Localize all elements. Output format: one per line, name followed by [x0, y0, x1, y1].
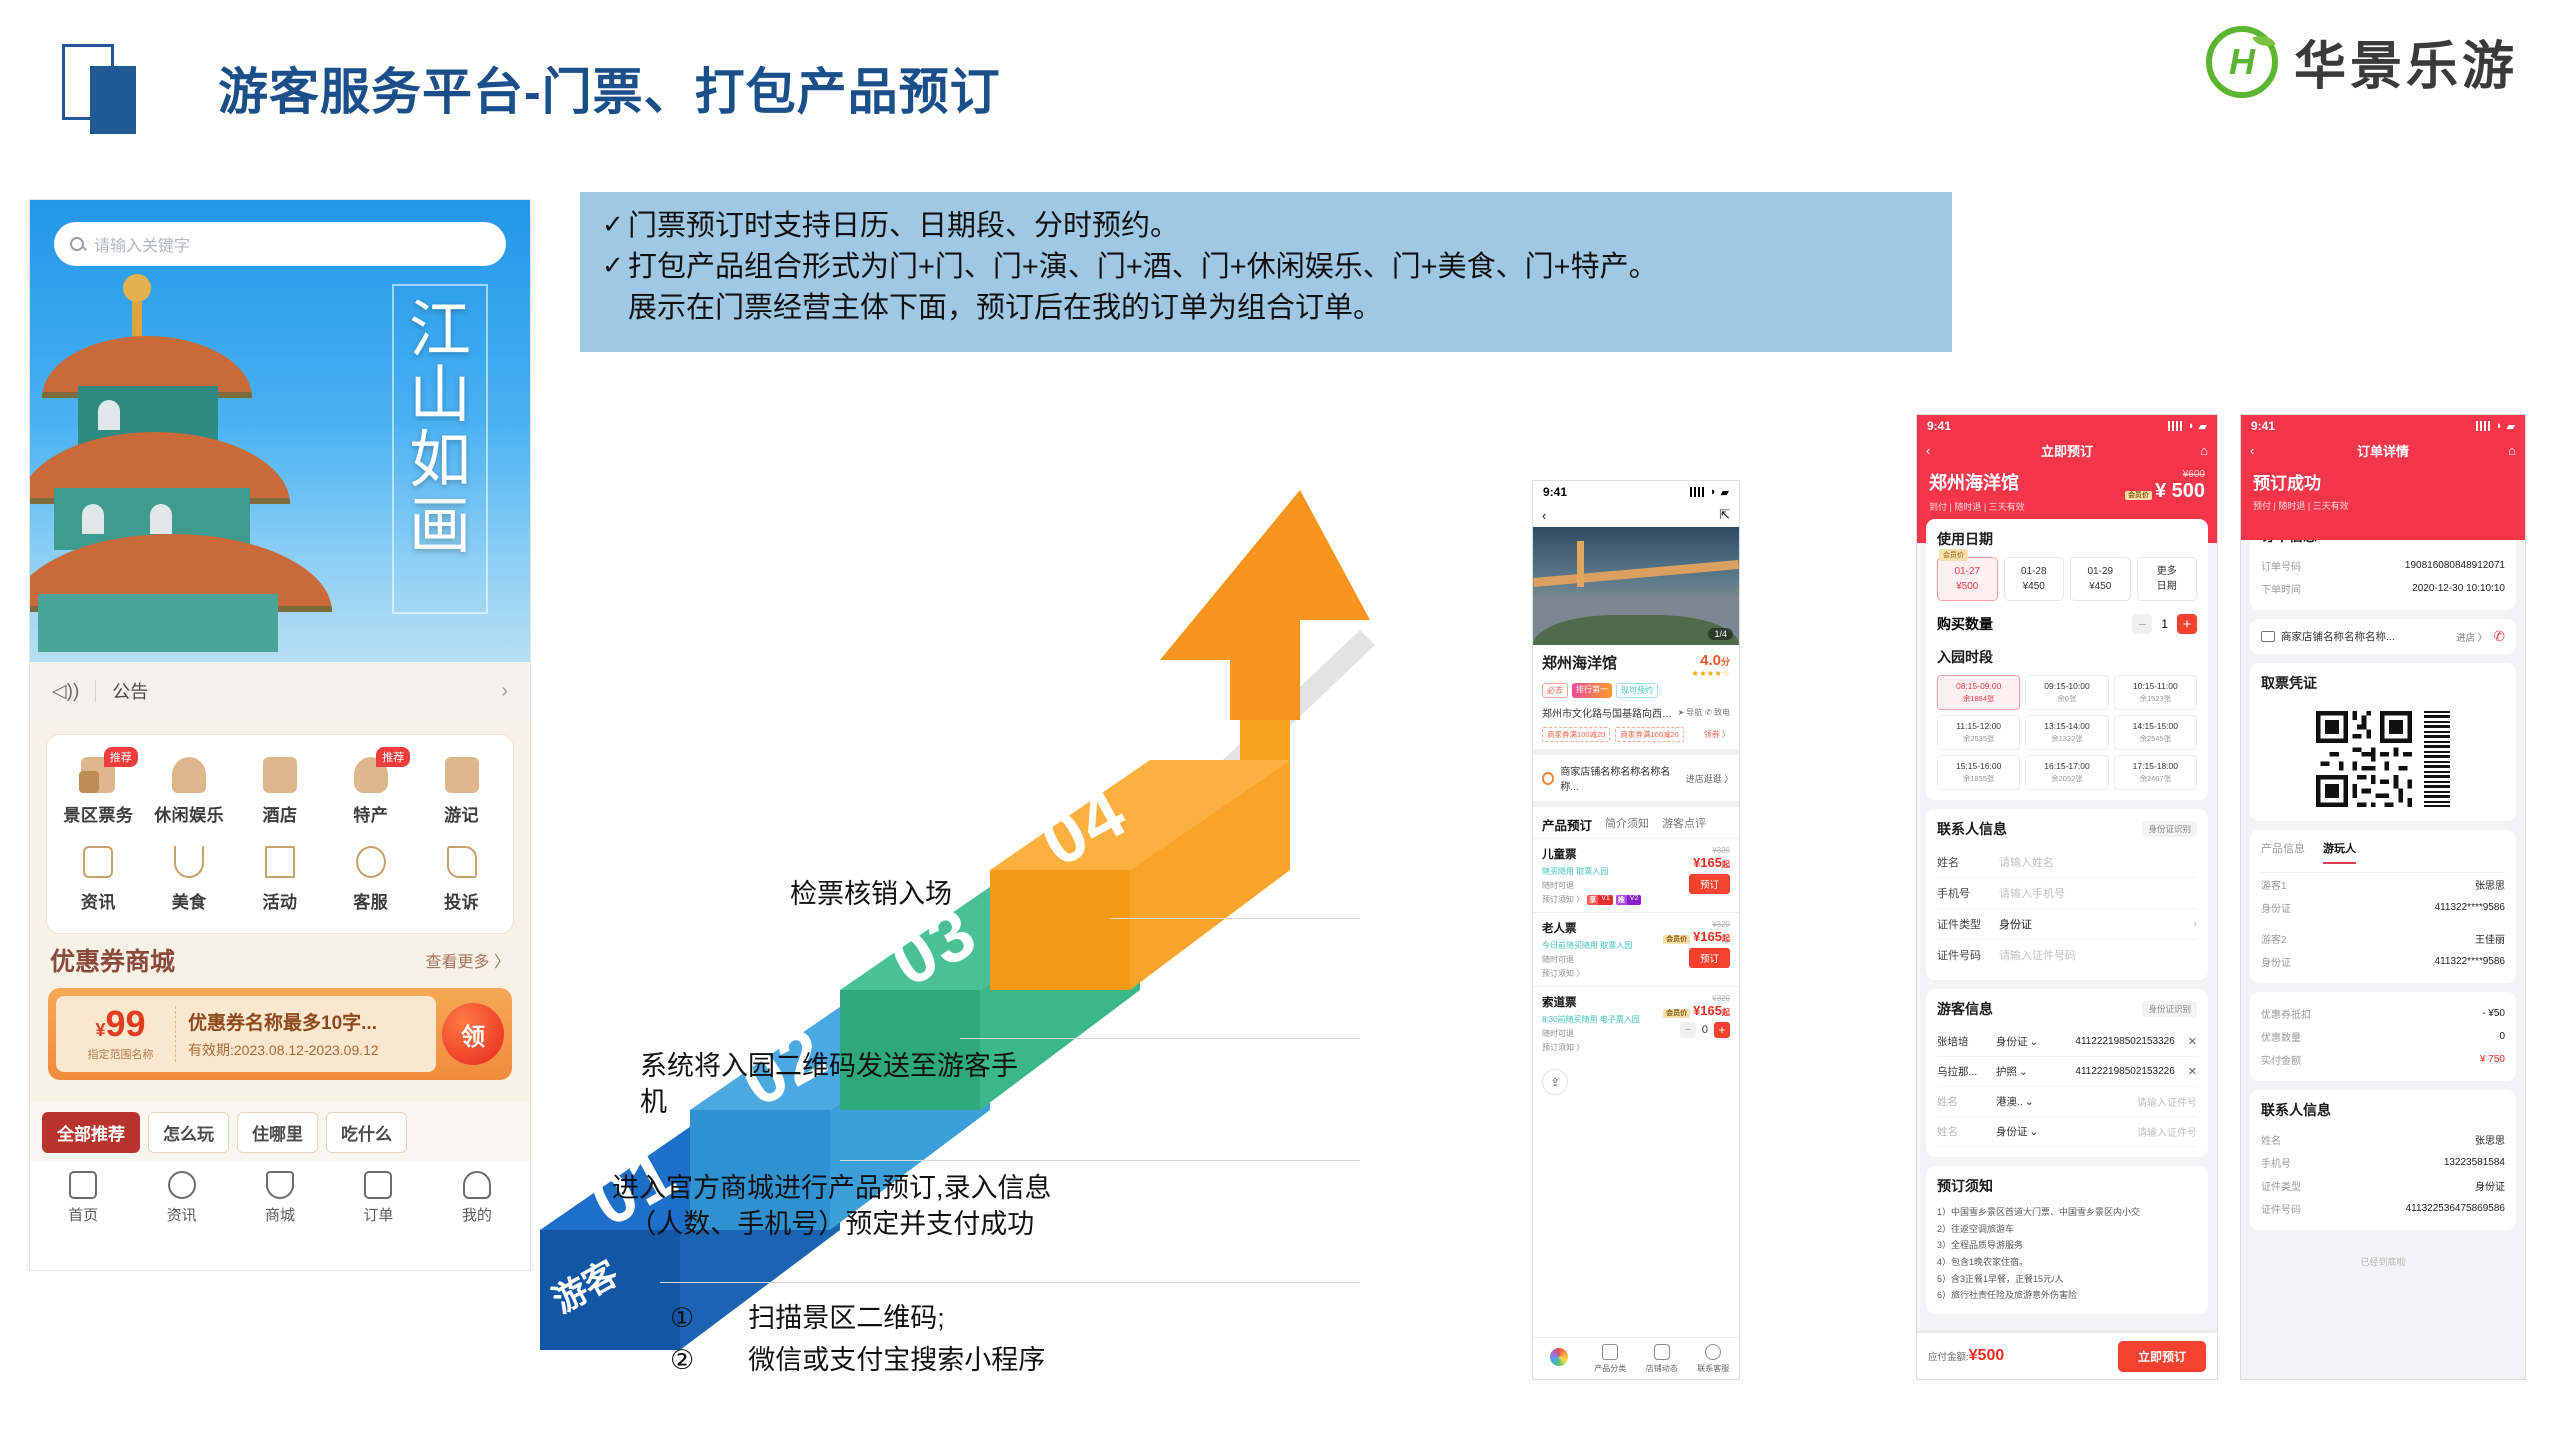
field-label: 优惠数量 [2261, 1029, 2301, 1044]
end-of-list-label: 已经到底啦 [2241, 1239, 2525, 1278]
price-unit: 起 [1722, 1008, 1730, 1017]
vip-badge-v2: 推V2 [1616, 895, 1642, 905]
complaint-icon [439, 842, 485, 882]
home-bottom-nav: 首页 资讯 商城 订单 我的 [30, 1161, 530, 1237]
guest-name: 王佳丽 [2475, 931, 2505, 946]
claim-coupon-button[interactable]: 领 [442, 1003, 504, 1065]
grid-item-1[interactable]: 休闲娱乐 [144, 749, 235, 836]
slot-5[interactable]: 14:15-15:00余2545张 [2114, 715, 2197, 750]
home-icon[interactable]: ⌂ [2200, 443, 2208, 458]
customer-service-icon [348, 842, 394, 882]
share-icon[interactable]: ⇱ [1719, 507, 1730, 523]
product-info: 老人票 今日前随买随用 取票入园 随时可退 预订须知 〉 [1542, 920, 1660, 979]
guest-row: 游客2王佳丽 [2261, 927, 2505, 950]
book-button[interactable]: 预订 [1689, 874, 1730, 894]
title-row: 郑州海洋馆 4.0分 ★★★★☆ [1542, 652, 1730, 678]
ticket-voucher-card: 取票凭证 [2250, 663, 2516, 821]
logo-letter: H [2229, 44, 2255, 80]
shield-icon [266, 1171, 294, 1199]
product-title: 郑州海洋馆 [1542, 652, 1617, 673]
date-option-1[interactable]: 01-28¥450 [2004, 557, 2065, 601]
rainbow-logo-icon [1550, 1348, 1568, 1366]
tag-bookable: 现可预约 [1616, 683, 1658, 698]
guest-id-type[interactable]: 身份证⌄ [1996, 1034, 2038, 1049]
coupon-deduction: - ¥50 [2482, 1008, 2505, 1019]
food-icon [166, 842, 212, 882]
guest-id-type[interactable]: 身份证⌄ [1996, 1124, 2038, 1139]
contact-name: 张思思 [2475, 1132, 2505, 1147]
order-header: 9:41 ◗▰ ‹ 订单详情 ⌂ 预订成功 预付 | 随时退 | 三天有效 [2241, 415, 2525, 540]
field-label: 姓名 [1937, 854, 1999, 870]
news-icon [75, 842, 121, 882]
field-label: 身份证 [2261, 900, 2291, 915]
field-phone[interactable]: 手机号请输入手机号 [1937, 878, 2197, 909]
guest-row[interactable]: 姓名身份证⌄请输入证件号 [1937, 1117, 2197, 1147]
rating-block: 4.0分 ★★★★☆ [1692, 652, 1730, 678]
field-label: 下单时间 [2261, 581, 2301, 596]
contact-phone-row: 手机号13223581584 [2261, 1151, 2505, 1174]
description-note: ✓ 门票预订时支持日历、日期段、分时预约。 ✓ 打包产品组合形式为门+门、门+演… [580, 192, 1952, 352]
booking-notice-link[interactable]: 预订须知 〉 [1542, 1042, 1584, 1053]
slot-8[interactable]: 17:15-18:00余2467张 [2114, 755, 2197, 790]
slot-time: 16:15-17:00 [2028, 761, 2105, 771]
slot-remaining: 余1884张 [1940, 693, 2017, 704]
increase-button[interactable]: + [2177, 614, 2197, 634]
nav-label: 店铺动态 [1646, 1364, 1678, 1373]
coupon-amount: 99 [105, 1003, 145, 1044]
hero-calligraphy: 江 山 如 画 [392, 284, 488, 614]
field-placeholder: 请输入证件号码 [1999, 947, 2076, 963]
divider [95, 680, 96, 702]
refund-policy: 随时可退 [1542, 1028, 1660, 1039]
nav-label: 联系客服 [1697, 1364, 1729, 1373]
booking-notice-link[interactable]: 预订须知 〉 [1542, 894, 1584, 905]
refund-policy: 随时可退 [1542, 880, 1660, 891]
guest-row[interactable]: 姓名港澳..⌄请输入证件号 [1937, 1087, 2197, 1117]
guest-name: 张培培 [1937, 1034, 1989, 1049]
field-value: 身份证 [1999, 916, 2032, 932]
booking-notice-link[interactable]: 预订须知 〉 [1542, 968, 1584, 979]
merchant-row: 商家店铺名称名称名称... 进店 〉 ✆ [2261, 628, 2505, 645]
field-label: 身份证 [2261, 954, 2291, 969]
quantity-stepper[interactable]: − 0 + [1660, 1022, 1730, 1038]
date-card: 使用日期 会员价 01-27¥500 01-28¥450 01-29¥450 更… [1926, 519, 2208, 800]
date-price: ¥450 [2005, 579, 2064, 594]
note-text-1: 门票预订时支持日历、日期段、分时预约。 [628, 206, 1179, 247]
chat-icon [1654, 1344, 1670, 1360]
guest-title-text: 游客信息 [1937, 999, 1993, 1019]
note-text-2: 打包产品组合形式为门+门、门+演、门+酒、门+休闲娱乐、门+美食、门+特产。 [628, 247, 1658, 288]
book-now-button[interactable]: 立即预订 [2118, 1341, 2206, 1372]
grid-item-6[interactable]: 美食 [144, 836, 235, 923]
recommend-badge: 推荐 [104, 747, 138, 767]
quantity-label: 购买数量 [1937, 614, 1993, 634]
note-line-2: ✓ 打包产品组合形式为门+门、门+演、门+酒、门+休闲娱乐、门+美食、门+特产。 [602, 247, 1930, 288]
tab-how-to-play[interactable]: 怎么玩 [148, 1112, 229, 1153]
home-icon [69, 1171, 97, 1199]
price-block: ¥320 会员价¥165起 预订 [1660, 920, 1730, 979]
tab-reviews[interactable]: 游客点评 [1662, 815, 1706, 834]
home-icon[interactable]: ⌂ [2508, 443, 2516, 458]
grid-row-2: 资讯 美食 活动 客服 [53, 836, 507, 923]
contact-card: 联系人信息 姓名张思思 手机号13223581584 证件类型身份证 证件号码4… [2250, 1090, 2516, 1230]
product-summary: 郑州海洋馆 到付 | 随时退 | 三天有效 ¥600 会员价¥ 500 [1917, 463, 2217, 513]
grid-item-2[interactable]: 酒店 [235, 749, 326, 836]
slot-time: 10:15-11:00 [2117, 681, 2194, 691]
merchant-coupon-2[interactable]: 商家券满100减20 [1615, 727, 1683, 742]
guest-card: 游客信息身份证识别 张培培身份证⌄411222198502153326✕ 乌拉那… [1926, 989, 2208, 1157]
navigate-label: 导航 [1686, 707, 1702, 718]
product-info: 索道票 8:30前随买随用 电子票入园 随时可退 预订须知 〉 [1542, 994, 1660, 1053]
address-row: 郑州市文化路与国基路向西100... ➤ 导航 ✆ 致电 [1542, 705, 1730, 720]
step-1-line-1: 扫描景区二维码; [748, 1300, 945, 1336]
nav-orders[interactable]: 订单 [329, 1171, 427, 1225]
tag-must-go: 必去 [1542, 683, 1568, 698]
guest-id-number: 请输入证件号 [2137, 1094, 2197, 1109]
product-info: 儿童票 随买随用 取票入园 随时可退 预订须知 〉 享V1 推V2 [1542, 846, 1660, 905]
rating-unit: 分 [1721, 657, 1730, 667]
notice-item: 3）全程品质导游服务 [1937, 1237, 2197, 1254]
date-label: 01-28 [2005, 564, 2064, 579]
notice-card: 预订须知 1）中国雪乡景区首道大门票、中国雪乡景区内小交 2）往返空调旅游车 3… [1926, 1166, 2208, 1314]
field-label: 证件号码 [1937, 947, 1999, 963]
rating-value: 4.0 [1700, 652, 1721, 669]
arrow-up-icon [1160, 490, 1370, 720]
order-status: 预订成功 预付 | 随时退 | 三天有效 [2241, 463, 2525, 512]
decrease-button[interactable]: − [1680, 1022, 1696, 1038]
product-name: 老人票 [1542, 920, 1660, 936]
hero-banner: 请输入关键字 江 山 如 画 游之长子 ◁)) 公 [30, 200, 530, 720]
company-logo-icon: H [2206, 26, 2278, 98]
member-price-tag: 会员价 [1939, 549, 1968, 561]
guest-id-number: 请输入证件号 [2137, 1124, 2197, 1139]
step-3-text: 系统将入园二维码发送至游客手 机 [640, 1048, 1018, 1121]
nav-label: 订单 [329, 1204, 427, 1225]
decrease-button[interactable]: − [2132, 614, 2152, 634]
calligraphy-char-1: 江 [409, 298, 471, 361]
slot-time: 09:15-10:00 [2028, 681, 2105, 691]
slot-remaining: 余1523张 [2117, 693, 2194, 704]
grid-item-5[interactable]: 资讯 [53, 836, 144, 923]
contact-card: 联系人信息身份证识别 姓名请输入姓名 手机号请输入手机号 证件类型身份证› 证件… [1926, 809, 2208, 980]
guest-id-type[interactable]: 护照⌄ [1996, 1064, 2028, 1079]
notice-item: 6）旅行社责任险及旅游意外伤害险 [1937, 1287, 2197, 1304]
product-meta: 随买随用 取票入园 [1542, 866, 1660, 877]
status-icons: ◗▰ [2168, 420, 2207, 433]
slot-1[interactable]: 09:15-10:00余0张 [2025, 675, 2108, 710]
remove-icon[interactable]: ✕ [2188, 1065, 2197, 1078]
home-app-mockup: 请输入关键字 江 山 如 画 游之长子 ◁)) 公 [30, 200, 530, 1270]
calligraphy-char-4: 画 [409, 494, 471, 557]
step-2-line-2: （人数、手机号）预定并支付成功 [612, 1206, 1052, 1242]
guest-row[interactable]: 乌拉那...护照⌄411222198502153226✕ [1937, 1057, 2197, 1087]
slot-6[interactable]: 15:15-16:00余1855张 [1937, 755, 2020, 790]
back-icon[interactable]: ‹ [1542, 508, 1546, 523]
coupon-info: 优惠券名称最多10字... 有效期:2023.08.12-2023.09.12 [176, 1008, 426, 1060]
tab-visitors[interactable]: 游玩人 [2323, 840, 2356, 864]
call-button[interactable]: ✆ 致电 [1705, 707, 1730, 718]
nav-title: 订单详情 [2241, 441, 2525, 460]
contact-section-title: 联系人信息身份证识别 [1937, 819, 2197, 839]
nav-label: 首页 [34, 1204, 132, 1225]
price-unit: 起 [1722, 860, 1730, 869]
field-id-number[interactable]: 证件号码请输入证件号码 [1937, 940, 2197, 970]
nav-shop-news[interactable]: 店铺动态 [1636, 1344, 1688, 1374]
shop-icon [1542, 772, 1554, 785]
guest-name: 姓名 [1937, 1124, 1989, 1139]
payment-bar: 应付金额: ¥500 立即预订 [1917, 1333, 2217, 1379]
barcode[interactable] [2424, 711, 2450, 807]
grid-label: 活动 [235, 888, 326, 913]
step-3-line-2: 机 [640, 1084, 1018, 1120]
order-tabs: 产品信息 游玩人 [2261, 840, 2505, 873]
order-status-sub: 预付 | 随时退 | 三天有效 [2253, 499, 2513, 512]
contact-id-type-row: 证件类型身份证 [2261, 1174, 2505, 1197]
slot-remaining: 余2535张 [1940, 733, 2017, 744]
enter-shop-link[interactable]: 进店 〉 [2456, 630, 2487, 644]
product-name: 儿童票 [1542, 846, 1660, 862]
enter-shop-link[interactable]: 进店逛逛 〉 [1686, 772, 1730, 785]
slot-2[interactable]: 10:15-11:00余1523张 [2114, 675, 2197, 710]
booking-notice-row[interactable]: 预订须知 〉 享V1 推V2 [1542, 894, 1660, 905]
step-3-line-1: 系统将入园二维码发送至游客手 [640, 1048, 1018, 1084]
phone-icon[interactable]: ✆ [2493, 628, 2505, 645]
bullet-1: ① [670, 1300, 694, 1336]
contact-id-number: 411322536475869586 [2406, 1203, 2505, 1214]
slot-time: 11:15-12:00 [1940, 721, 2017, 731]
price-block: ¥320 ¥165起 预订 [1660, 846, 1730, 905]
back-icon[interactable]: ‹ [1926, 443, 1930, 458]
product-sub: 到付 | 随时退 | 三天有效 [1929, 500, 2025, 513]
tab-product-info[interactable]: 产品信息 [2261, 840, 2305, 864]
wifi-icon: ◗ [2188, 420, 2195, 432]
grid-item-9[interactable]: 投诉 [416, 836, 507, 923]
note-line-1: ✓ 门票预订时支持日历、日期段、分时预约。 [602, 206, 1930, 247]
grid-item-4[interactable]: 游记 [416, 749, 507, 836]
travel-note-icon [439, 755, 485, 795]
field-placeholder: 请输入手机号 [1999, 885, 2065, 901]
grid-label: 客服 [325, 888, 416, 913]
shop-name: 商家店铺名称名称名称名称... [1560, 763, 1679, 793]
field-label: 证件号码 [2261, 1201, 2301, 1216]
discount-count: 0 [2499, 1031, 2505, 1042]
time-slot-grid: 08:15-09:00余1884张 09:15-10:00余0张 10:15-1… [1937, 675, 2197, 790]
pagoda-illustration [30, 282, 350, 662]
nav-contact-service[interactable]: 联系客服 [1688, 1344, 1740, 1374]
guest-section-title: 游客信息身份证识别 [1937, 999, 2197, 1019]
grid-item-8[interactable]: 客服 [325, 836, 416, 923]
brand-logo-group: H 华景乐游 [2206, 24, 2518, 99]
tab-what-to-eat[interactable]: 吃什么 [326, 1112, 407, 1153]
book-button[interactable]: 预订 [1689, 948, 1730, 968]
status-bar: 9:41 ◗▰ [1917, 415, 2217, 437]
notice-section-title: 预订须知 [1937, 1176, 2197, 1196]
date-section-title: 使用日期 [1937, 529, 2197, 549]
product-header: 郑州海洋馆 4.0分 ★★★★☆ 必去 排行第一 现可预约 郑州市文化路与国基路… [1533, 645, 1739, 749]
field-name[interactable]: 姓名请输入姓名 [1937, 847, 2197, 878]
battery-icon: ▰ [1721, 486, 1729, 499]
voucher-codes [2261, 701, 2505, 811]
slot-section-title: 入园时段 [1937, 647, 2197, 667]
coupon-card[interactable]: ¥99 指定范围名称 优惠券名称最多10字... 有效期:2023.08.12-… [48, 988, 512, 1080]
shop-row[interactable]: 商家店铺名称名称名称名称... 进店逛逛 〉 [1533, 755, 1739, 801]
date-label: 01-29 [2071, 564, 2130, 579]
field-label: 证件类型 [2261, 1178, 2301, 1193]
tab-where-to-stay[interactable]: 住哪里 [237, 1112, 318, 1153]
bottom-action-bar: 产品分类 店铺动态 联系客服 [1533, 1337, 1739, 1379]
back-icon[interactable]: ‹ [2250, 443, 2254, 458]
voucher-title: 取票凭证 [2261, 673, 2505, 693]
slot-4[interactable]: 13:15-14:00余1322张 [2025, 715, 2108, 750]
coupon-validity: 有效期:2023.08.12-2023.09.12 [188, 1040, 426, 1060]
address-text: 郑州市文化路与国基路向西100... [1542, 705, 1675, 720]
more-dates-button[interactable]: 更多 日期 [2137, 557, 2198, 601]
qr-code[interactable] [2316, 711, 2412, 807]
grid-item-7[interactable]: 活动 [235, 836, 326, 923]
nav-bar: ‹ 立即预订 ⌂ [1917, 437, 2217, 463]
contact-title: 联系人信息 [2261, 1100, 2505, 1120]
step-1-line-2: 微信或支付宝搜索小程序 [748, 1342, 1045, 1378]
original-price: ¥320 [1660, 846, 1730, 855]
grid-label: 休闲娱乐 [144, 801, 235, 826]
check-icon: ✓ [602, 206, 628, 243]
tab-intro-notice[interactable]: 简介须知 [1605, 815, 1649, 834]
guest-row[interactable]: 张培培身份证⌄411222198502153326✕ [1937, 1027, 2197, 1057]
pay-label: 应付金额: [1928, 1349, 1969, 1363]
merchant-coupon-1[interactable]: 商家券满100减20 [1542, 727, 1610, 742]
contact-id-number-row: 证件号码411322536475869586 [2261, 1197, 2505, 1220]
contact-phone: 13223581584 [2444, 1157, 2505, 1168]
navigate-button[interactable]: ➤ 导航 [1678, 707, 1703, 718]
slot-remaining: 余0张 [2028, 693, 2105, 704]
nav-home[interactable]: 首页 [34, 1171, 132, 1225]
slot-remaining: 余2467张 [2117, 773, 2194, 784]
nav-logo[interactable] [1533, 1348, 1585, 1369]
tag-rank-first: 排行第一 [1572, 683, 1612, 698]
tab-all-recommend[interactable]: 全部推荐 [42, 1112, 140, 1153]
entertainment-icon [166, 755, 212, 795]
grid-label: 资讯 [53, 888, 144, 913]
status-bar: 9:41 ◗▰ [2241, 415, 2525, 437]
booking-notice-row[interactable]: 预订须知 〉 [1542, 968, 1660, 979]
guest-tab-card: 产品信息 游玩人 游客1张思思 身份证411322****9586 游客2王佳丽… [2250, 830, 2516, 983]
original-price: ¥320 [1660, 994, 1730, 1003]
hotel-icon [257, 755, 303, 795]
order-time: 2020-12-30 10:10:10 [2412, 583, 2505, 594]
field-label: 姓名 [2261, 1132, 2281, 1147]
guest-id-type[interactable]: 港澳..⌄ [1996, 1094, 2034, 1109]
merchant-card[interactable]: 商家店铺名称名称名称... 进店 〉 ✆ [2250, 619, 2516, 654]
amount-card: 优惠券抵扣- ¥50 优惠数量0 实付金额¥ 750 [2250, 992, 2516, 1081]
order-number-row: 订单号码190816080848912071 [2261, 554, 2505, 577]
paid-amount: ¥ 750 [2480, 1054, 2505, 1065]
nav-bar: ‹ ⇱ [1533, 503, 1739, 527]
id-scan-button[interactable]: 身份证识别 [2142, 821, 2197, 837]
list-icon [1602, 1344, 1618, 1360]
booking-notice-row[interactable]: 预订须知 〉 [1542, 1042, 1660, 1053]
megaphone-icon: ◁)) [52, 680, 79, 703]
announcement-bar[interactable]: ◁)) 公告 › [30, 662, 530, 720]
quantity-row: 购买数量 − 1 + [1937, 614, 2197, 634]
product-meta: 8:30前随买随用 电子票入园 [1542, 1014, 1660, 1025]
id-scan-button[interactable]: 身份证识别 [2142, 1001, 2197, 1017]
grid-label: 酒店 [235, 801, 326, 826]
date-label: 01-27 [1938, 564, 1997, 579]
calligraphy-char-3: 如 [409, 428, 471, 491]
guest-id: 411322****9586 [2435, 956, 2505, 967]
slot-3[interactable]: 11:15-12:00余2535张 [1937, 715, 2020, 750]
nav-product-category[interactable]: 产品分类 [1585, 1344, 1637, 1374]
bullet-2: ② [670, 1342, 694, 1378]
coupon-price-block: ¥99 指定范围名称 [66, 1006, 176, 1062]
order-detail-mockup: 9:41 ◗▰ ‹ 订单详情 ⌂ 预订成功 预付 | 随时退 | 三天有效 订单… [2240, 414, 2526, 1380]
tab-product-booking[interactable]: 产品预订 [1542, 815, 1592, 834]
nav-mine[interactable]: 我的 [428, 1171, 526, 1225]
notice-item: 4）包含1晚农家住宿。 [1937, 1254, 2197, 1271]
nav-mall[interactable]: 商城 [231, 1171, 329, 1225]
coupon-view-more[interactable]: 查看更多 〉 [426, 948, 510, 972]
contact-name-row: 姓名张思思 [2261, 1128, 2505, 1151]
field-label: 实付金额 [2261, 1052, 2301, 1067]
search-input[interactable]: 请输入关键字 [54, 222, 506, 266]
booking-page-mockup: 9:41 ◗▰ ‹ 立即预订 ⌂ 郑州海洋馆 到付 | 随时退 | 三天有效 ¥… [1916, 414, 2218, 1380]
get-coupon-link[interactable]: 领券 〉 [1704, 729, 1730, 740]
share-fab-icon[interactable]: ⇪ [1542, 1069, 1568, 1095]
slot-time: 15:15-16:00 [1940, 761, 2017, 771]
calligraphy-char-2: 山 [409, 363, 471, 426]
news-icon [168, 1171, 196, 1199]
remove-icon[interactable]: ✕ [2188, 1035, 2197, 1048]
nav-news[interactable]: 资讯 [132, 1171, 230, 1225]
date-option-0[interactable]: 01-27¥500 [1937, 557, 1998, 601]
slot-0[interactable]: 08:15-09:00余1884张 [1937, 675, 2020, 710]
quantity-value: 0 [1702, 1024, 1708, 1036]
document-icon [364, 1171, 392, 1199]
product-title: 郑州海洋馆 [1929, 469, 2025, 495]
store-icon [2261, 631, 2275, 642]
activity-flag-icon [257, 842, 303, 882]
quick-entry-section: 景区票务 推荐 休闲娱乐 酒店 特产 推荐 [30, 720, 530, 1102]
slot-7[interactable]: 16:15-17:00余2052张 [2025, 755, 2108, 790]
pay-amount: ¥500 [1969, 1347, 2005, 1365]
brand-name: 华景乐游 [2294, 24, 2518, 99]
status-time: 9:41 [1543, 485, 1567, 499]
signal-icon [2476, 421, 2492, 431]
leaf-icon [2252, 31, 2275, 50]
increase-button[interactable]: + [1714, 1022, 1730, 1038]
nav-label: 商城 [231, 1204, 329, 1225]
guest-id-row: 身份证411322****9586 [2261, 896, 2505, 919]
grid-item-0[interactable]: 景区票务 推荐 [53, 749, 144, 836]
page-title: 游客服务平台-门票、打包产品预订 [218, 52, 1001, 124]
guest-name: 乌拉那... [1937, 1064, 1989, 1079]
quantity-stepper[interactable]: − 1 + [2132, 614, 2197, 634]
grid-label: 游记 [416, 801, 507, 826]
field-placeholder: 请输入姓名 [1999, 854, 2054, 870]
status-bar: 9:41 ◗ ▰ [1533, 481, 1739, 503]
date-option-2[interactable]: 01-29¥450 [2070, 557, 2131, 601]
refund-policy: 随时可退 [1542, 954, 1660, 965]
slot-time: 13:15-14:00 [2028, 721, 2105, 731]
slide-root: 游客服务平台-门票、打包产品预订 H 华景乐游 ✓ 门票预订时支持日历、日期段、… [0, 0, 2560, 1440]
grid-item-3[interactable]: 特产 推荐 [325, 749, 416, 836]
field-id-type[interactable]: 证件类型身份证› [1937, 909, 2197, 940]
grid-label: 投诉 [416, 888, 507, 913]
guest-name: 张思思 [2475, 877, 2505, 892]
price-block: ¥600 会员价¥ 500 [2125, 469, 2205, 503]
paid-amount-row: 实付金额¥ 750 [2261, 1048, 2505, 1071]
battery-icon: ▰ [2199, 420, 2207, 433]
